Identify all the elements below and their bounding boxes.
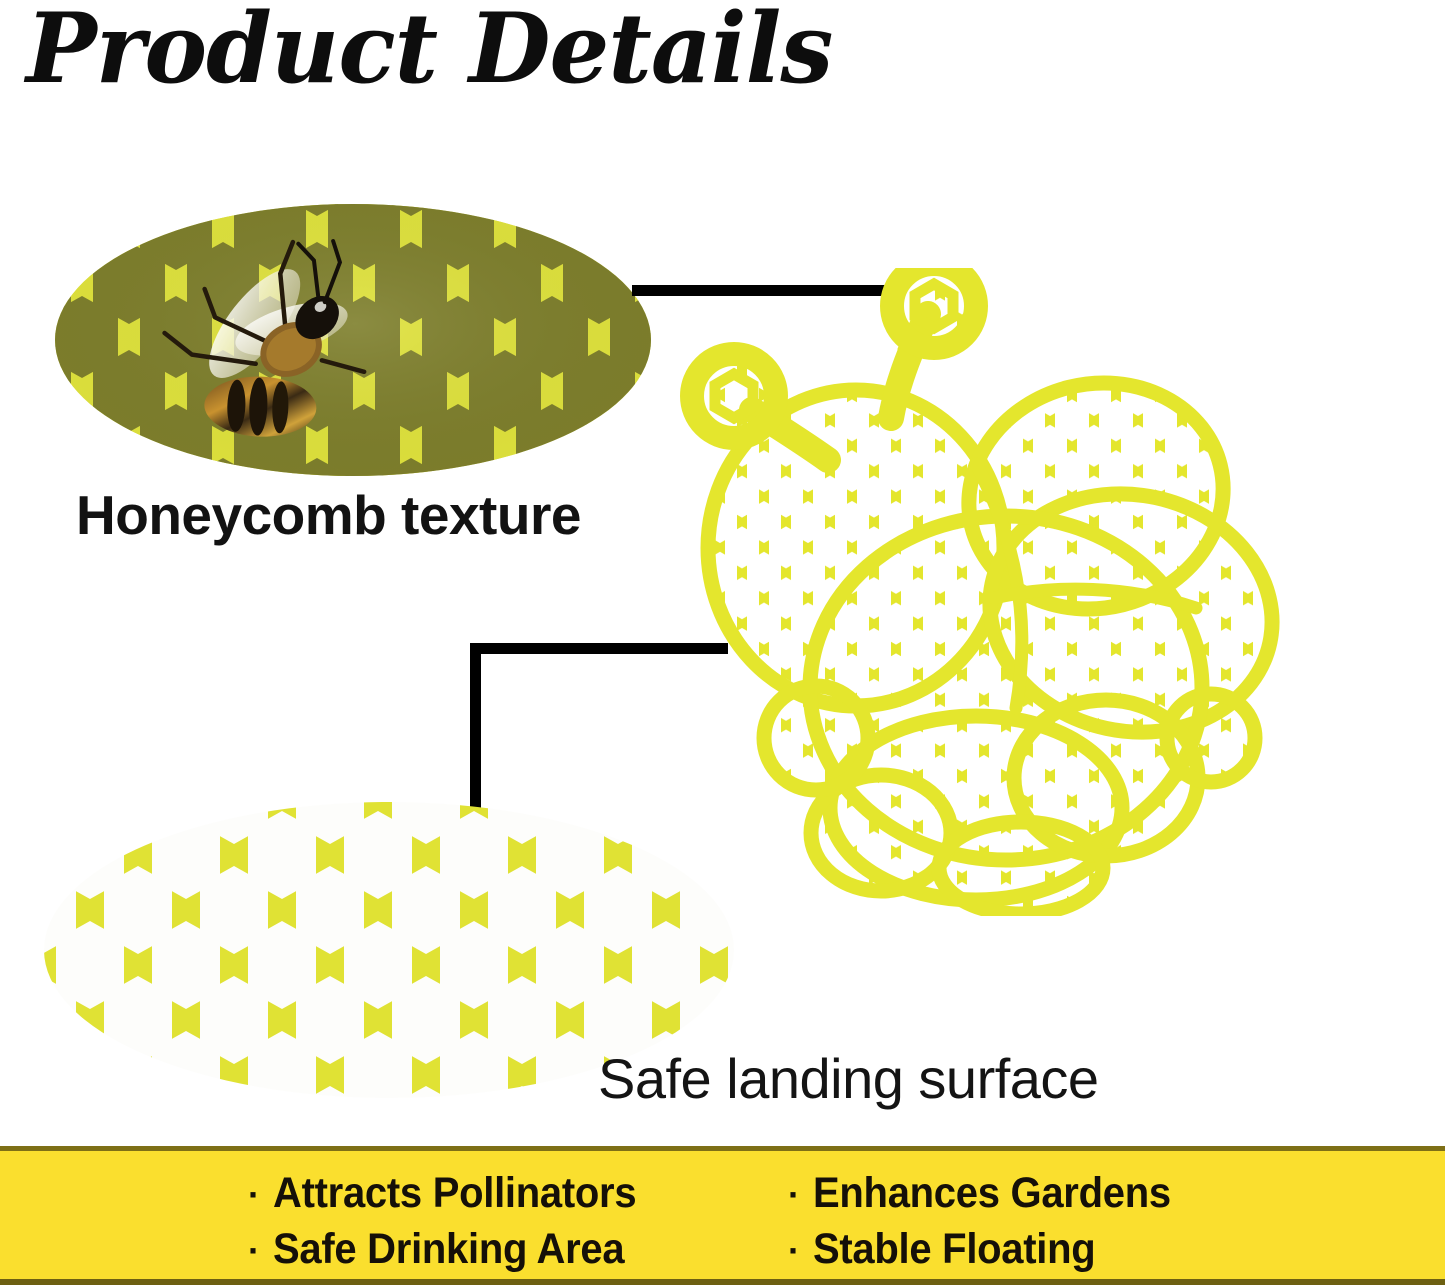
bullet-icon: ·	[788, 1177, 800, 1213]
bullet-icon: ·	[788, 1233, 800, 1269]
safe-landing-surface-label: Safe landing surface	[598, 1046, 1099, 1111]
bullet-icon: ·	[248, 1177, 260, 1213]
honeycomb-texture-image	[55, 204, 651, 476]
page-title: Product Details	[26, 0, 832, 105]
feature-label: Attracts Pollinators	[273, 1169, 636, 1218]
feature-label: Stable Floating	[813, 1225, 1095, 1274]
bee-mesh-mat-svg	[676, 268, 1302, 916]
bullet-icon: ·	[248, 1233, 260, 1269]
bee-mesh-mat-product	[676, 268, 1302, 916]
feature-banner: · Attracts Pollinators · Enhances Garden…	[0, 1146, 1445, 1285]
honeycomb-texture-label: Honeycomb texture	[76, 483, 581, 547]
feature-list: · Attracts Pollinators · Enhances Garden…	[248, 1165, 1248, 1277]
feature-label: Safe Drinking Area	[273, 1225, 624, 1274]
feature-item-enhances-gardens: · Enhances Gardens	[788, 1169, 1248, 1218]
honeycomb-texture-svg	[55, 204, 651, 476]
callout-line-safe-landing-vertical	[470, 643, 481, 813]
feature-item-attracts-pollinators: · Attracts Pollinators	[248, 1169, 788, 1218]
feature-item-stable-floating: · Stable Floating	[788, 1225, 1248, 1274]
feature-item-safe-drinking-area: · Safe Drinking Area	[248, 1225, 788, 1274]
feature-label: Enhances Gardens	[813, 1169, 1171, 1218]
